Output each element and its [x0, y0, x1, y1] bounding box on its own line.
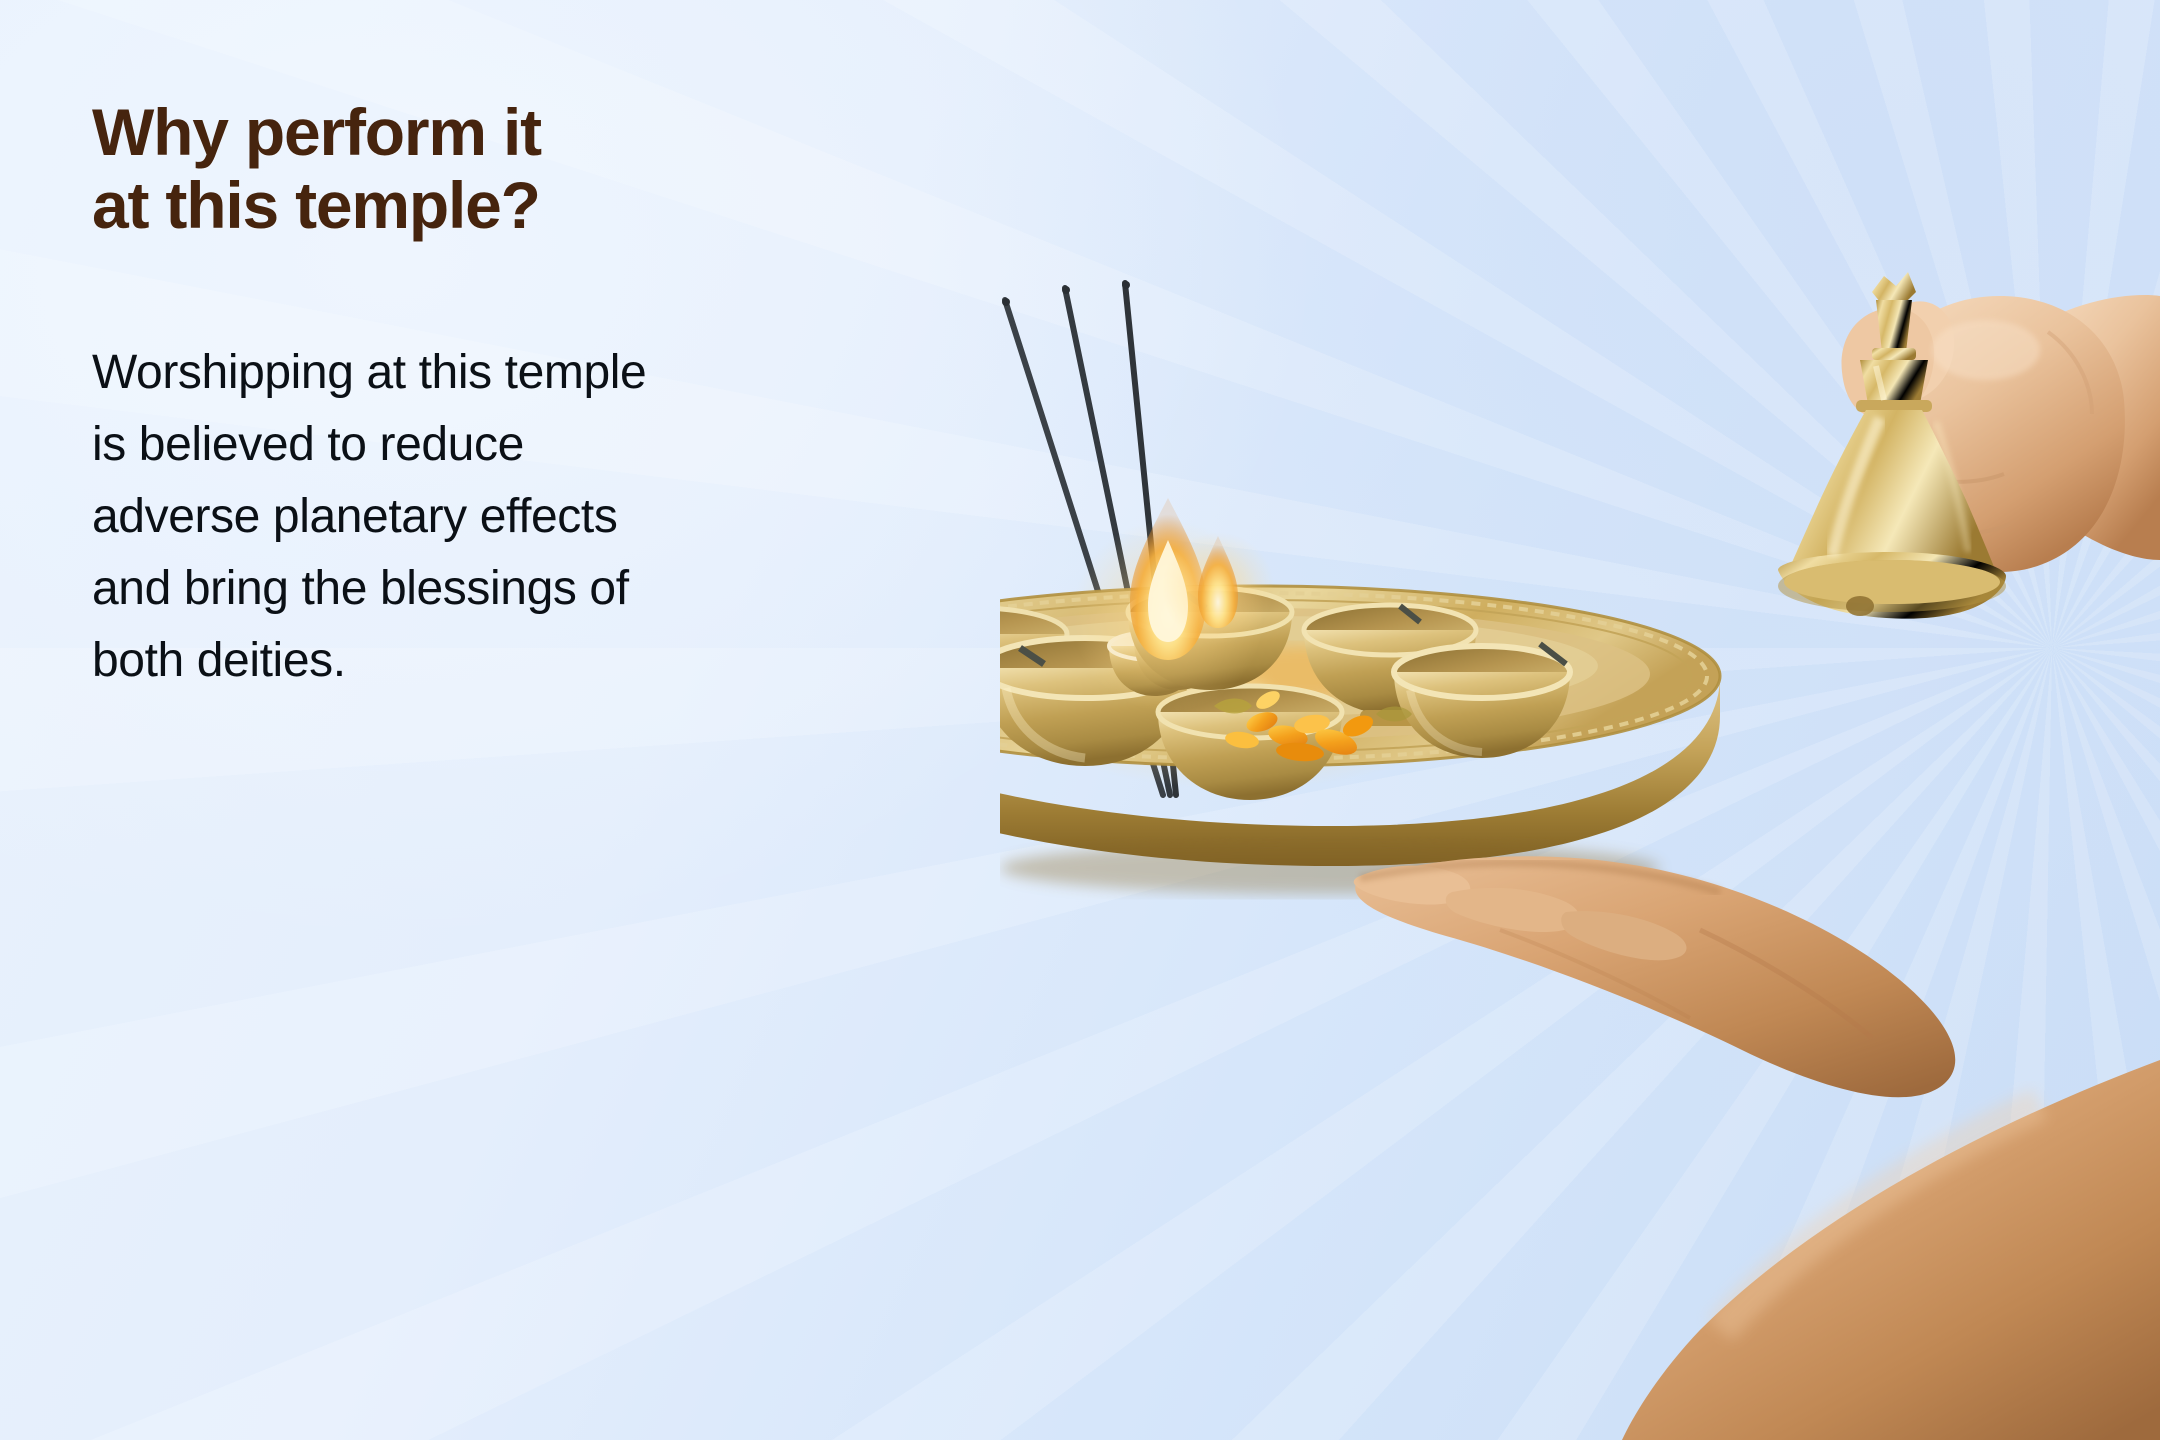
puja-photo: [1000, 0, 2160, 1440]
text-column: Why perform it at this temple? Worshippi…: [92, 96, 932, 697]
body-paragraph: Worshipping at this temple is believed t…: [92, 337, 692, 697]
diya-flame: [1162, 532, 1274, 644]
page-title: Why perform it at this temple?: [92, 96, 932, 241]
hand-holding-plate: [1354, 856, 2160, 1440]
